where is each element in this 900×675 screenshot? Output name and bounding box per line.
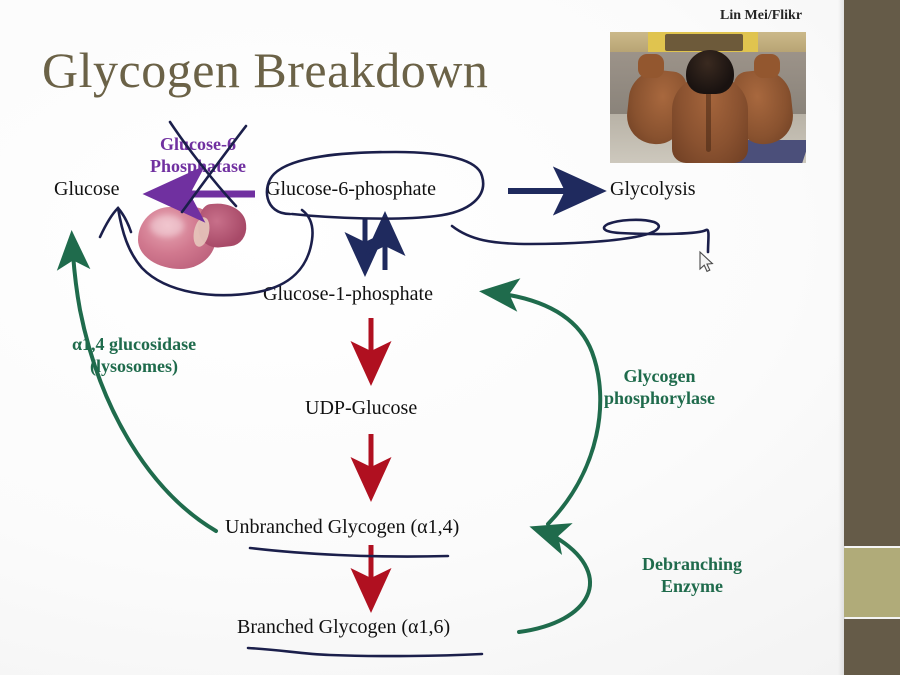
enzyme-glycogen-phosphorylase-line2: phosphorylase bbox=[604, 388, 715, 410]
ink-underline-unbranched bbox=[250, 548, 448, 557]
node-glucose: Glucose bbox=[54, 178, 120, 201]
enzyme-glycogen-phosphorylase: Glycogen phosphorylase bbox=[604, 366, 715, 410]
enzyme-debranching-enzyme: Debranching Enzyme bbox=[642, 554, 742, 598]
curve-glycogen-phosphorylase-green bbox=[487, 292, 600, 524]
enzyme-alpha14-line1: α1,4 glucosidase bbox=[72, 334, 196, 356]
curve-debranching-enzyme-green bbox=[519, 529, 590, 632]
node-glucose-1-phosphate: Glucose-1-phosphate bbox=[263, 283, 433, 306]
enzyme-glucose-6-phosphatase: Glucose-6 Phosphatase bbox=[150, 134, 246, 178]
node-udp-glucose: UDP-Glucose bbox=[305, 397, 417, 420]
sidebar-segment-accent bbox=[844, 548, 900, 617]
node-branched-glycogen: Branched Glycogen (α1,6) bbox=[237, 616, 450, 639]
mouse-cursor bbox=[700, 252, 712, 271]
node-unbranched-glycogen: Unbranched Glycogen (α1,4) bbox=[225, 516, 459, 539]
ink-trail-under-glycolysis bbox=[452, 220, 709, 252]
enzyme-debranching-line2: Enzyme bbox=[642, 576, 742, 598]
enzyme-g6pase-line1: Glucose-6 bbox=[150, 134, 246, 156]
liver-image bbox=[138, 201, 246, 271]
enzyme-debranching-line1: Debranching bbox=[642, 554, 742, 576]
curve-alpha-1-4-glucosidase-green bbox=[72, 238, 216, 531]
decorative-sidebar bbox=[844, 0, 900, 675]
enzyme-g6pase-line2: Phosphatase bbox=[150, 156, 246, 178]
enzyme-glycogen-phosphorylase-line1: Glycogen bbox=[604, 366, 715, 388]
node-glycolysis: Glycolysis bbox=[610, 178, 696, 201]
sidebar-segment-top bbox=[844, 0, 900, 546]
presentation-slide: Glycogen Breakdown Lin Mei/Flikr Glucose… bbox=[0, 0, 900, 675]
ink-underline-branched bbox=[248, 648, 482, 656]
slide-title: Glycogen Breakdown bbox=[42, 44, 488, 97]
photo-credit-label: Lin Mei/Flikr bbox=[720, 8, 802, 24]
sidebar-segment-bottom bbox=[844, 619, 900, 675]
node-glucose-6-phosphate: Glucose-6-phosphate bbox=[266, 178, 436, 201]
enzyme-alpha-1-4-glucosidase: α1,4 glucosidase (lysosomes) bbox=[72, 334, 196, 378]
enzyme-alpha14-line2: (lysosomes) bbox=[72, 356, 196, 378]
bodybuilder-photo bbox=[610, 32, 806, 163]
